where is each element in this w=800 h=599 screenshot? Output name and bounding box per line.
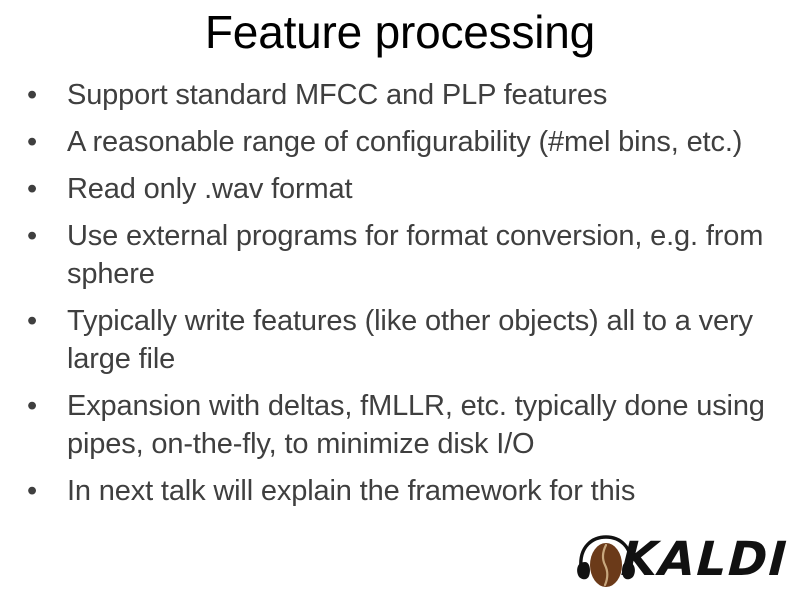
list-item: • In next talk will explain the framewor…: [18, 472, 786, 510]
kaldi-wordmark: KALDI: [620, 532, 790, 588]
list-item: • Typically write features (like other o…: [18, 302, 786, 378]
kaldi-logo: KALDI: [575, 530, 790, 592]
bullet-icon: •: [27, 170, 41, 208]
bullet-icon: •: [27, 217, 41, 255]
bullet-icon: •: [27, 387, 41, 425]
list-item: • Support standard MFCC and PLP features: [18, 76, 786, 114]
list-item-text: Expansion with deltas, fMLLR, etc. typic…: [67, 387, 786, 463]
list-item-text: Support standard MFCC and PLP features: [67, 76, 786, 114]
bullet-icon: •: [27, 123, 41, 161]
list-item-text: A reasonable range of configurability (#…: [67, 123, 786, 161]
bullet-icon: •: [27, 302, 41, 340]
slide: Feature processing • Support standard MF…: [0, 0, 800, 599]
list-item: • Read only .wav format: [18, 170, 786, 208]
bullet-icon: •: [27, 472, 41, 510]
list-item-text: Use external programs for format convers…: [67, 217, 786, 293]
list-item-text: In next talk will explain the framework …: [67, 472, 786, 510]
page-title: Feature processing: [0, 4, 800, 60]
bullet-list: • Support standard MFCC and PLP features…: [18, 76, 786, 519]
list-item-text: Read only .wav format: [67, 170, 786, 208]
list-item-text: Typically write features (like other obj…: [67, 302, 786, 378]
list-item: • A reasonable range of configurability …: [18, 123, 786, 161]
list-item: • Use external programs for format conve…: [18, 217, 786, 293]
bullet-icon: •: [27, 76, 41, 114]
list-item: • Expansion with deltas, fMLLR, etc. typ…: [18, 387, 786, 463]
